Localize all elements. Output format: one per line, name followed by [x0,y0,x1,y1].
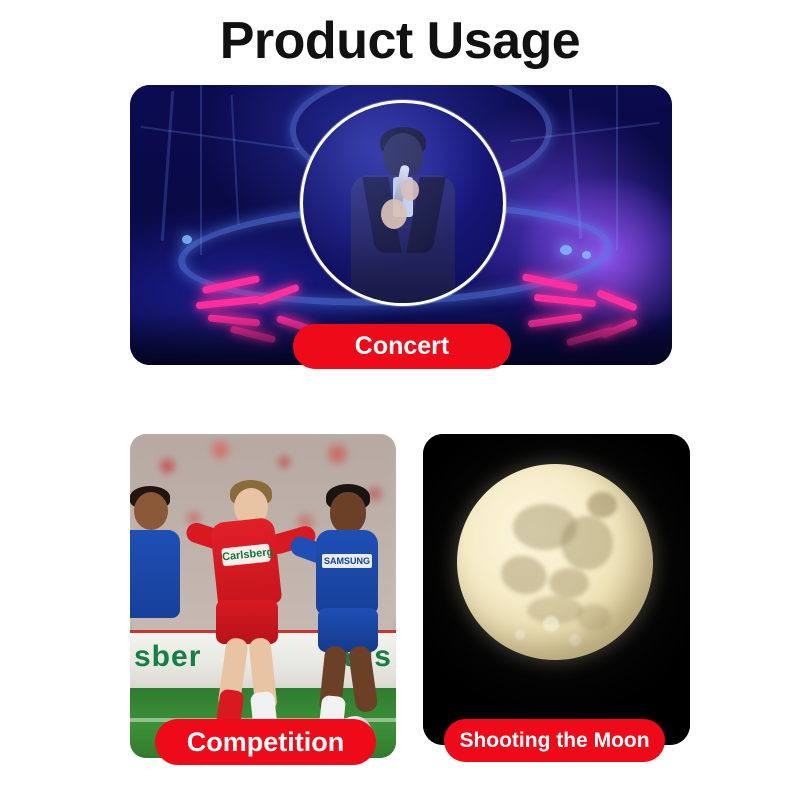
badge-concert[interactable]: Concert [293,324,511,369]
card-competition[interactable]: sber arls Carlsberg SAMSUNG [130,434,396,758]
stage-rigging-line [200,85,202,255]
advertising-board-text-left: sber [134,640,201,680]
moon-limb-shading [457,464,653,660]
stage-light [560,245,572,255]
product-usage-page: Product Usage [0,0,800,800]
stage-light [582,251,591,259]
player-blue-left-head [134,492,168,530]
player-red-shorts [216,600,278,644]
stage-rigging-line [616,85,618,250]
inset-glow-overlay [303,103,503,303]
player-blue-left-jersey [130,530,180,618]
badge-competition[interactable]: Competition [155,719,376,765]
card-concert[interactable] [130,85,672,365]
page-title: Product Usage [0,14,800,69]
jersey-sponsor-blue: SAMSUNG [322,554,372,568]
player-blue-jersey [316,530,378,614]
moon-disc [457,464,653,660]
player-blue-shorts [318,608,378,652]
performer-zoom-inset [300,100,506,306]
player-blue-head [330,492,366,534]
stage-light [182,235,192,244]
card-moon[interactable] [423,434,690,745]
badge-shooting-the-moon[interactable]: Shooting the Moon [444,719,665,762]
